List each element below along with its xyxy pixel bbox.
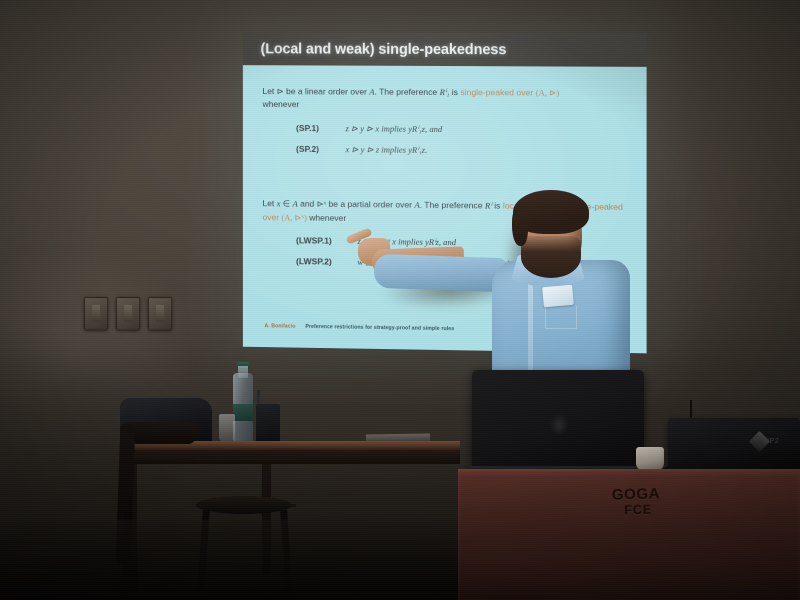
pen-holder [256,404,280,443]
slide-sp-items: (SP.1) z ⊳ y ⊳ x implies yRⁱ₁z, and (SP.… [296,122,630,159]
presenter-hair-side [512,206,528,246]
lwsp-symbol-pair: (A, ⊳ˣ) [281,212,307,222]
sp2-text: x ⊳ y ⊳ z implies yRⁱ₁z. [345,143,427,157]
lwsp-lead-f: whenever [307,212,346,222]
laptop[interactable] [472,370,644,474]
sp1-tag: (SP.1) [296,122,345,136]
slide-footer-author: A. Bonifacio [265,322,296,330]
presenter-beard [521,236,581,278]
coffee-mug [636,447,664,471]
sp2-tag: (SP.2) [296,143,345,157]
projector-label: NP2 [764,438,779,445]
light-switch-plate[interactable] [116,297,140,330]
lwsp-symbol-x: x [277,199,281,209]
photo-scene: (Local and weak) single-peakedness Let ⊳… [0,0,800,600]
slide-title-bar: (Local and weak) single-peakedness [243,32,647,66]
sp1-text: z ⊳ y ⊳ x implies yRⁱ₁z, and [345,122,442,136]
lwsp2-tag: (LWSP.2) [296,255,357,269]
sp-highlight: single-peaked over [460,87,533,97]
light-switch-plate[interactable] [148,297,172,330]
projector[interactable]: NP2 [668,418,800,472]
name-badge [542,285,574,308]
presenter-arm-sleeve [373,254,506,293]
plastic-cup [219,414,235,442]
sp-lead-d: is [449,87,460,97]
desk-graffiti-line1: GOGA [612,485,661,503]
sp-lead-c: . The preference [375,87,440,97]
desk-graffiti-line2: FCE [624,502,661,517]
sp-lead-e: whenever [263,99,300,109]
sp-symbol-pair: (A, ⊳) [536,87,560,97]
slide-title: (Local and weak) single-peakedness [261,41,507,58]
sp-symbol-pref: Rⁱ₁ [440,87,450,97]
desk-graffiti: GOGA FCE [612,486,661,517]
sp-lead-a: Let [263,86,277,96]
list-item: (SP.1) z ⊳ y ⊳ x implies yRⁱ₁z, and [296,122,630,138]
lwsp-lead-b: and [298,199,317,209]
floor [0,520,470,600]
sp-symbol-order: ⊳ [277,86,284,96]
chair-seat [196,496,292,514]
list-item: (SP.2) x ⊳ y ⊳ z implies yRⁱ₁z. [296,143,630,159]
laptop-logo-icon [550,414,568,436]
shirt-pocket [545,306,577,329]
wall-light-switches[interactable] [84,297,172,330]
lwsp-symbol-orderx: ⊳ˣ [317,199,327,209]
slide-paragraph-sp: Let ⊳ be a linear order over A. The pref… [263,85,631,114]
light-switch-plate[interactable] [84,297,108,330]
sp-lead-b: be a linear order over [284,86,370,96]
bottle-label [233,404,253,421]
lwsp-lead-a: Let [263,198,277,208]
